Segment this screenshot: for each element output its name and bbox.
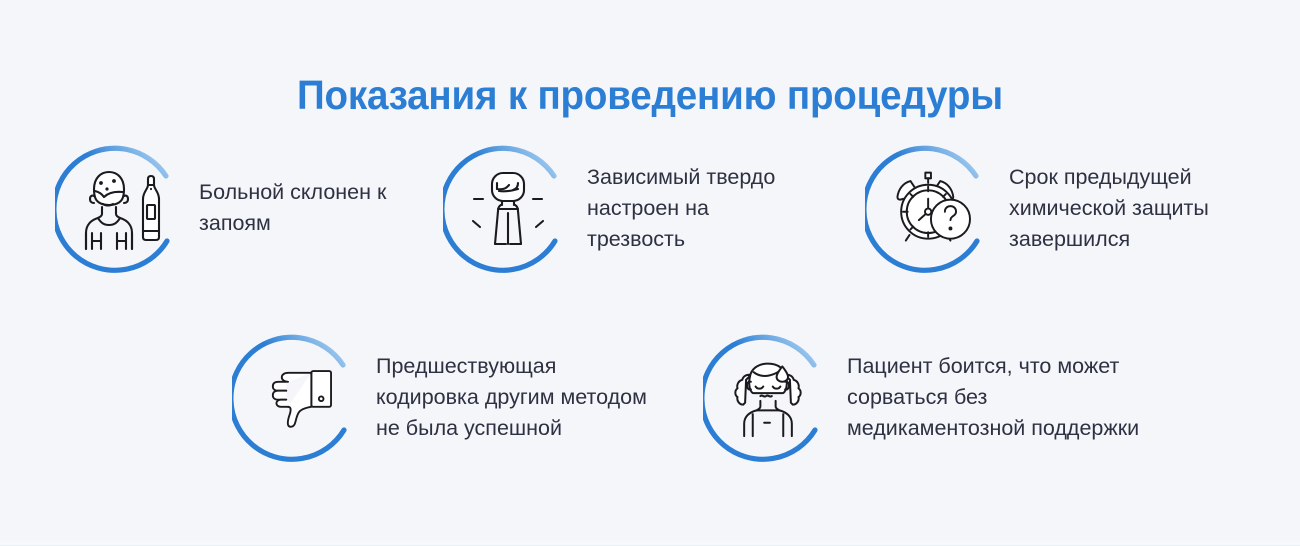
indication-item-4: Предшествующая кодировка другим методом … [232,332,716,462]
indication-label: Зависимый твердо настроен на трезвость [587,162,827,255]
icon-badge [443,143,573,273]
indication-item-3: Срок предыдущей химической защиты заверш… [865,143,1274,273]
bottom-divider [0,541,1300,546]
man-with-bottle-icon [55,143,185,273]
indication-label: Больной склонен к запоям [199,177,444,239]
icon-badge [703,332,833,462]
thumbs-down-icon [232,332,362,462]
icon-badge [865,143,995,273]
icon-badge [55,143,185,273]
indication-label: Пациент боится, что может сорваться без … [847,351,1227,444]
indication-item-1: Больной склонен к запоям [55,143,444,273]
icon-badge [232,332,362,462]
indication-item-5: Пациент боится, что может сорваться без … [703,332,1227,462]
indication-label: Предшествующая кодировка другим методом … [376,351,716,444]
determined-person-icon [443,143,573,273]
infographic-root: Показания к проведению процедуры [0,0,1300,546]
worried-patient-icon [703,332,833,462]
page-title: Показания к проведению процедуры [39,71,1261,119]
alarm-clock-question-icon [865,143,995,273]
indication-item-2: Зависимый твердо настроен на трезвость [443,143,827,273]
indication-label: Срок предыдущей химической защиты заверш… [1009,162,1274,255]
